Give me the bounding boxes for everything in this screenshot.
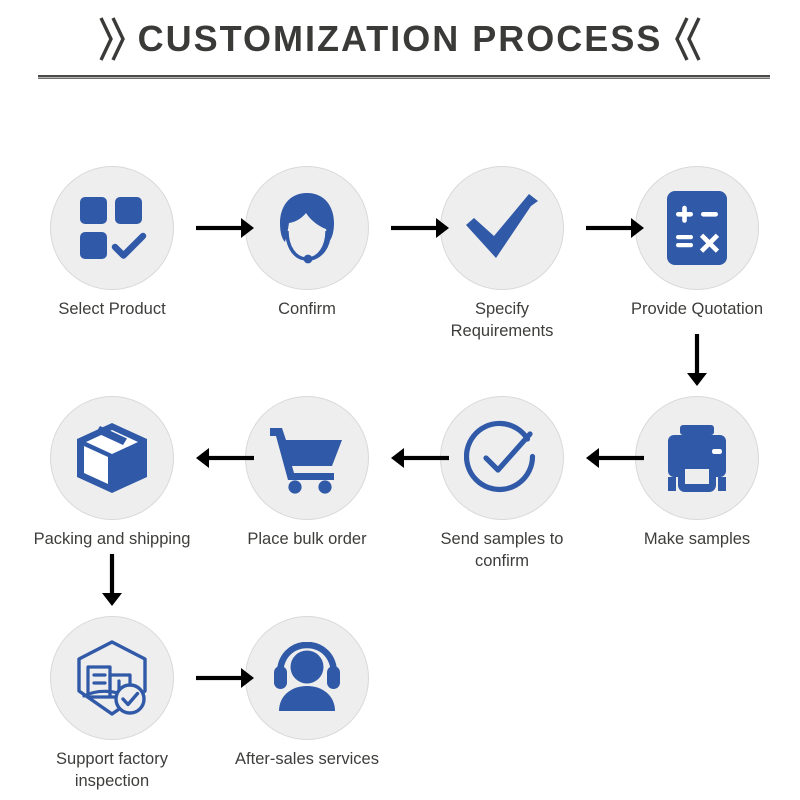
step-label-packing-shipping: Packing and shipping — [32, 529, 192, 551]
step-icon-circle-confirm — [245, 166, 369, 290]
process-step-after-sales[interactable]: After-sales services — [227, 616, 387, 771]
connector-arrow-inspection-to-after-sales — [196, 668, 254, 688]
step-icon-circle-send-samples — [440, 396, 564, 520]
process-step-select-product[interactable]: Select Product — [32, 166, 192, 321]
factory-shield-check-icon — [72, 639, 152, 717]
connector-arrow-select-to-confirm — [196, 218, 254, 238]
headset-agent-icon — [268, 189, 346, 267]
process-step-factory-inspection[interactable]: Support factory inspection — [32, 616, 192, 793]
step-icon-circle-packing-shipping — [50, 396, 174, 520]
step-label-send-samples: Send samples to confirm — [422, 529, 582, 573]
step-label-factory-inspection: Support factory inspection — [32, 749, 192, 793]
shopping-cart-icon — [268, 422, 346, 494]
process-step-specify-requirements[interactable]: Specify Requirements — [422, 166, 582, 343]
package-box-icon — [74, 420, 150, 496]
process-step-send-samples[interactable]: Send samples to confirm — [422, 396, 582, 573]
step-icon-circle-make-samples — [635, 396, 759, 520]
connector-arrow-make-samples-to-send-samples — [586, 448, 644, 468]
process-step-provide-quotation[interactable]: Provide Quotation — [617, 166, 777, 321]
step-icon-circle-select-product — [50, 166, 174, 290]
calculator-icon — [667, 191, 727, 265]
step-label-place-bulk-order: Place bulk order — [227, 529, 387, 551]
step-icon-circle-provide-quotation — [635, 166, 759, 290]
process-step-place-bulk-order[interactable]: Place bulk order — [227, 396, 387, 551]
connector-arrow-quotation-to-make-samples — [687, 334, 707, 386]
step-label-specify-requirements: Specify Requirements — [422, 299, 582, 343]
checkmark-icon — [463, 192, 541, 264]
step-label-provide-quotation: Provide Quotation — [617, 299, 777, 321]
circle-check-icon — [464, 420, 540, 496]
headset-person-icon — [267, 642, 347, 714]
step-label-after-sales: After-sales services — [227, 749, 387, 771]
connector-arrow-specify-to-quotation — [586, 218, 644, 238]
step-icon-circle-after-sales — [245, 616, 369, 740]
connector-arrow-bulk-order-to-packing — [196, 448, 254, 468]
connector-arrow-send-samples-to-bulk-order — [391, 448, 449, 468]
process-step-confirm[interactable]: Confirm — [227, 166, 387, 321]
step-icon-circle-specify-requirements — [440, 166, 564, 290]
process-step-make-samples[interactable]: Make samples — [617, 396, 777, 551]
step-label-confirm: Confirm — [227, 299, 387, 321]
process-step-packing-shipping[interactable]: Packing and shipping — [32, 396, 192, 551]
step-icon-circle-place-bulk-order — [245, 396, 369, 520]
step-label-make-samples: Make samples — [617, 529, 777, 551]
connector-arrow-packing-to-inspection — [102, 554, 122, 606]
process-flow-diagram: Select Product Confirm Specify Requireme… — [0, 0, 800, 800]
connector-arrow-confirm-to-specify — [391, 218, 449, 238]
printer-icon — [658, 423, 736, 493]
grid-check-icon — [76, 192, 148, 264]
step-label-select-product: Select Product — [32, 299, 192, 321]
step-icon-circle-factory-inspection — [50, 616, 174, 740]
